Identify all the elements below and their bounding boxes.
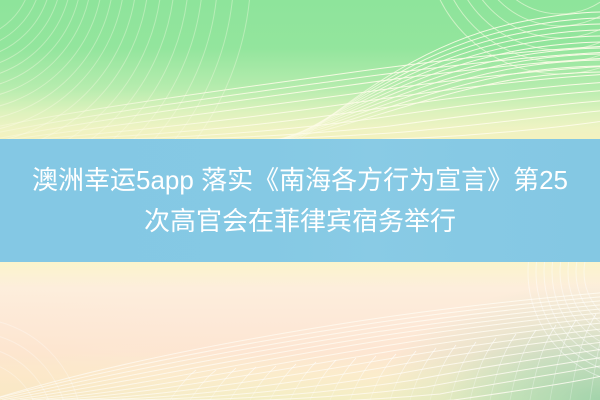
title-container: 澳洲幸运5app 落实《南海各方行为宣言》第25次高官会在菲律宾宿务举行 [0,139,600,262]
background-bottom-right-green-wash [300,240,600,400]
headline-text: 澳洲幸运5app 落实《南海各方行为宣言》第25次高官会在菲律宾宿务举行 [22,160,578,242]
banner-image: 澳洲幸运5app 落实《南海各方行为宣言》第25次高官会在菲律宾宿务举行 [0,0,600,400]
background-bottom-left-warm-wash [0,250,340,400]
